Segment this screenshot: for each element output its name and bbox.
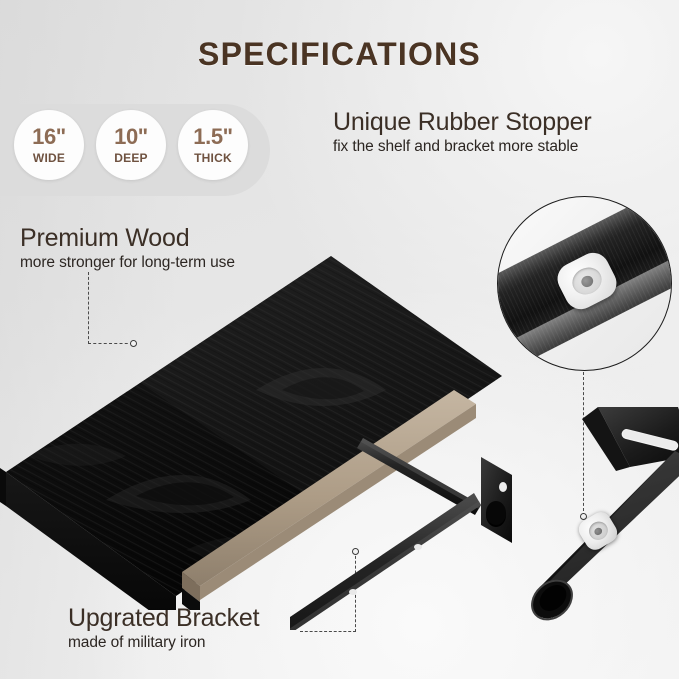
spec-badge-group: 16" WIDE 10" DEEP 1.5" THICK xyxy=(14,110,248,180)
loose-bracket-plate xyxy=(582,407,679,471)
bracket-hole xyxy=(414,544,422,550)
bracket-wall-plate-right xyxy=(481,457,512,543)
spec-badge-value: 1.5" xyxy=(193,126,232,148)
callout-subtext: fix the shelf and bracket more stable xyxy=(333,138,591,156)
callout-subtext: made of military iron xyxy=(68,634,259,652)
spec-badge-value: 16" xyxy=(32,126,66,148)
callout-upgraded-bracket: Upgrated Bracket made of military iron xyxy=(68,604,259,652)
spec-badge-thickness: 1.5" THICK xyxy=(178,110,248,180)
callout-heading: Premium Wood xyxy=(20,224,235,253)
loose-bracket-tube xyxy=(520,395,679,640)
spec-badge-unit: WIDE xyxy=(33,152,65,164)
bracket-crossbar xyxy=(290,493,481,630)
bracket-small-hole xyxy=(499,482,507,492)
spec-badge-depth: 10" DEEP xyxy=(96,110,166,180)
page-title: SPECIFICATIONS xyxy=(0,36,679,73)
leader-line-bracket xyxy=(300,631,356,632)
spec-badge-unit: THICK xyxy=(194,152,232,164)
spec-badge-width: 16" WIDE xyxy=(14,110,84,180)
board-left-edge xyxy=(0,468,6,506)
spec-badge-unit: DEEP xyxy=(114,152,147,164)
callout-heading: Unique Rubber Stopper xyxy=(333,108,591,137)
spec-badge-value: 10" xyxy=(114,126,148,148)
bracket-hole xyxy=(349,589,357,595)
rubber-stopper-zoom-circle xyxy=(497,196,672,371)
callout-rubber-stopper: Unique Rubber Stopper fix the shelf and … xyxy=(333,108,591,156)
